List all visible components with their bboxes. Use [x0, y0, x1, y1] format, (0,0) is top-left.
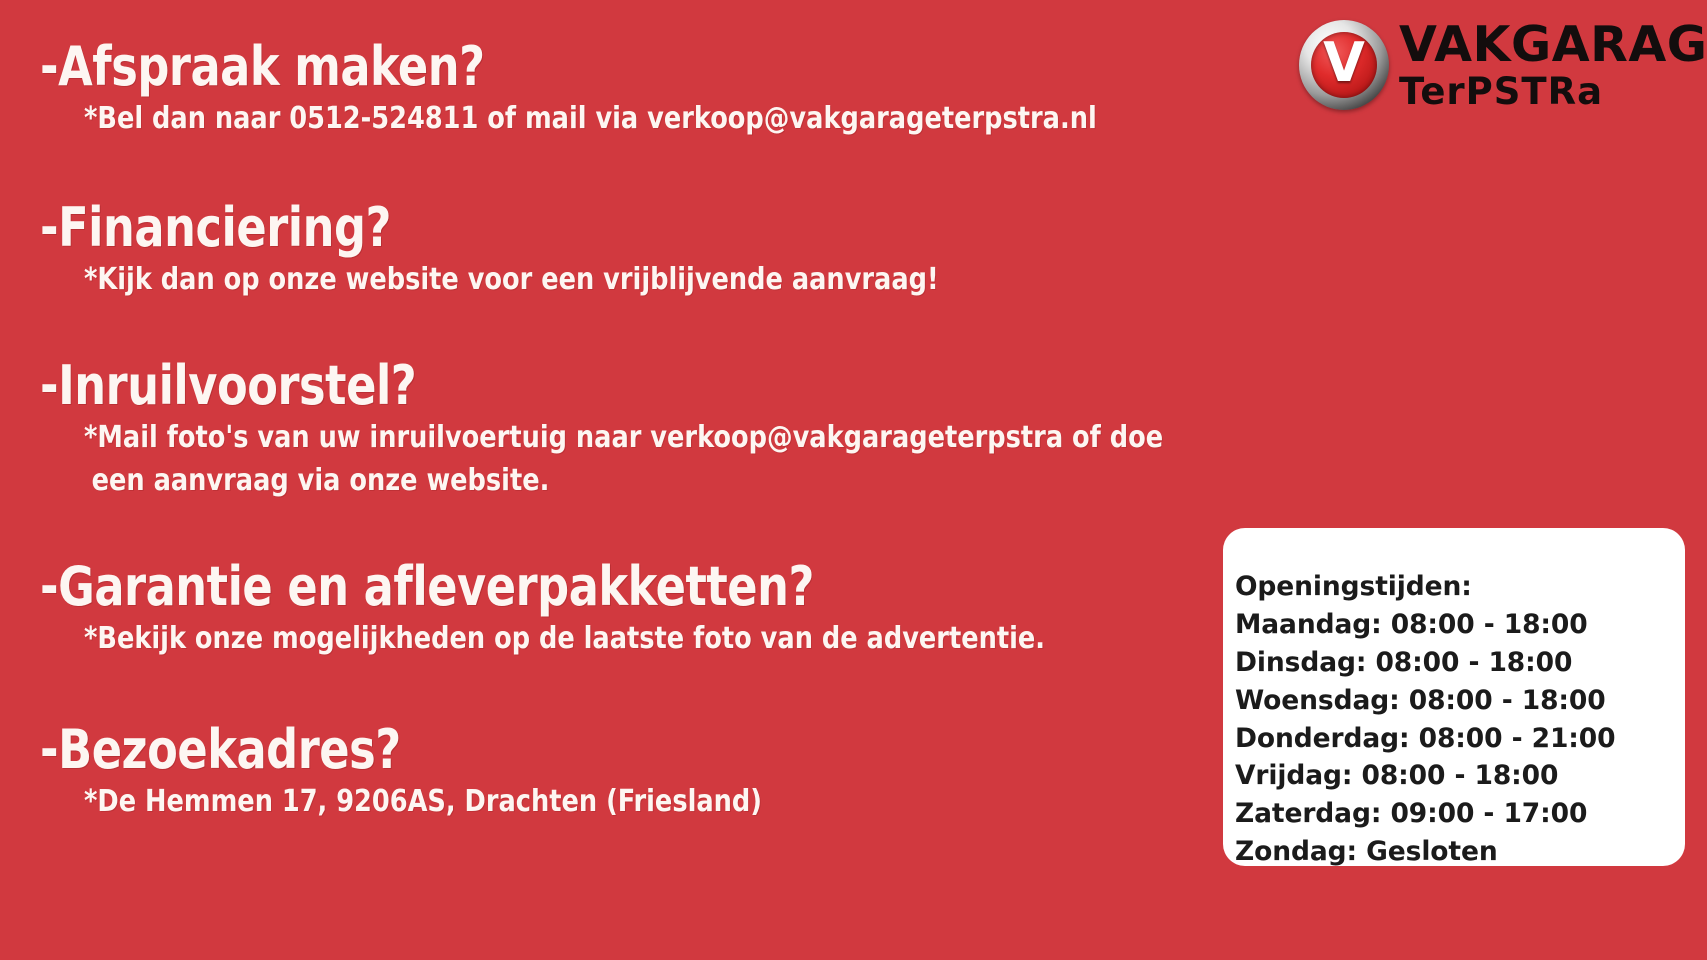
section-detail-line-1: *Mail foto's van uw inruilvoertuig naar … — [84, 420, 1163, 455]
section-detail: *Bel dan naar 0512-524811 of mail via ve… — [84, 98, 1192, 141]
info-list: -Afspraak maken? *Bel dan naar 0512-5248… — [0, 0, 1250, 846]
opening-hours-row: Woensdag: 08:00 - 18:00 — [1235, 682, 1685, 720]
vakgarage-logo: V VAKGARAGE TerPSTRa — [1299, 14, 1699, 116]
section-bezoekadres: -Bezoekadres? *De Hemmen 17, 9206AS, Dra… — [40, 723, 1250, 824]
opening-hours-row: Zaterdag: 09:00 - 17:00 — [1235, 795, 1685, 833]
section-detail: *De Hemmen 17, 9206AS, Drachten (Friesla… — [84, 781, 1192, 824]
promo-banner: V VAKGARAGE TerPSTRa -Afspraak maken? *B… — [0, 0, 1707, 960]
section-heading: -Garantie en afleverpakketten? — [40, 560, 1153, 614]
badge-inner-circle: V — [1311, 32, 1377, 98]
opening-hours-row: Maandag: 08:00 - 18:00 — [1235, 606, 1685, 644]
section-afspraak: -Afspraak maken? *Bel dan naar 0512-5248… — [40, 40, 1250, 141]
section-heading: -Afspraak maken? — [40, 40, 1153, 94]
opening-hours-row: Dinsdag: 08:00 - 18:00 — [1235, 644, 1685, 682]
logo-location-name: TerPSTRa — [1399, 73, 1707, 110]
section-garantie: -Garantie en afleverpakketten? *Bekijk o… — [40, 560, 1250, 661]
logo-brand-name: VAKGARAGE — [1399, 20, 1707, 69]
opening-hours-row: Donderdag: 08:00 - 21:00 — [1235, 720, 1685, 758]
logo-wordmark: VAKGARAGE TerPSTRa — [1399, 20, 1707, 110]
section-detail: *Mail foto's van uw inruilvoertuig naar … — [84, 417, 1192, 502]
section-heading: -Financiering? — [40, 201, 1153, 255]
section-detail: *Bekijk onze mogelijkheden op de laatste… — [84, 618, 1192, 661]
opening-hours-row: Zondag: Gesloten — [1235, 833, 1685, 871]
section-heading: -Bezoekadres? — [40, 723, 1153, 777]
badge-letter: V — [1323, 36, 1365, 90]
section-heading: -Inruilvoorstel? — [40, 359, 1153, 413]
vakgarage-badge-icon: V — [1299, 20, 1389, 110]
section-inruilvoorstel: -Inruilvoorstel? *Mail foto's van uw inr… — [40, 359, 1250, 502]
opening-hours-card: Openingstijden: Maandag: 08:00 - 18:00 D… — [1223, 528, 1685, 866]
opening-hours-row: Vrijdag: 08:00 - 18:00 — [1235, 757, 1685, 795]
opening-hours-title: Openingstijden: — [1235, 568, 1685, 606]
section-detail: *Kijk dan op onze website voor een vrijb… — [84, 259, 1192, 302]
section-financiering: -Financiering? *Kijk dan op onze website… — [40, 201, 1250, 302]
section-detail-line-2: een aanvraag via onze website. — [92, 460, 1192, 503]
